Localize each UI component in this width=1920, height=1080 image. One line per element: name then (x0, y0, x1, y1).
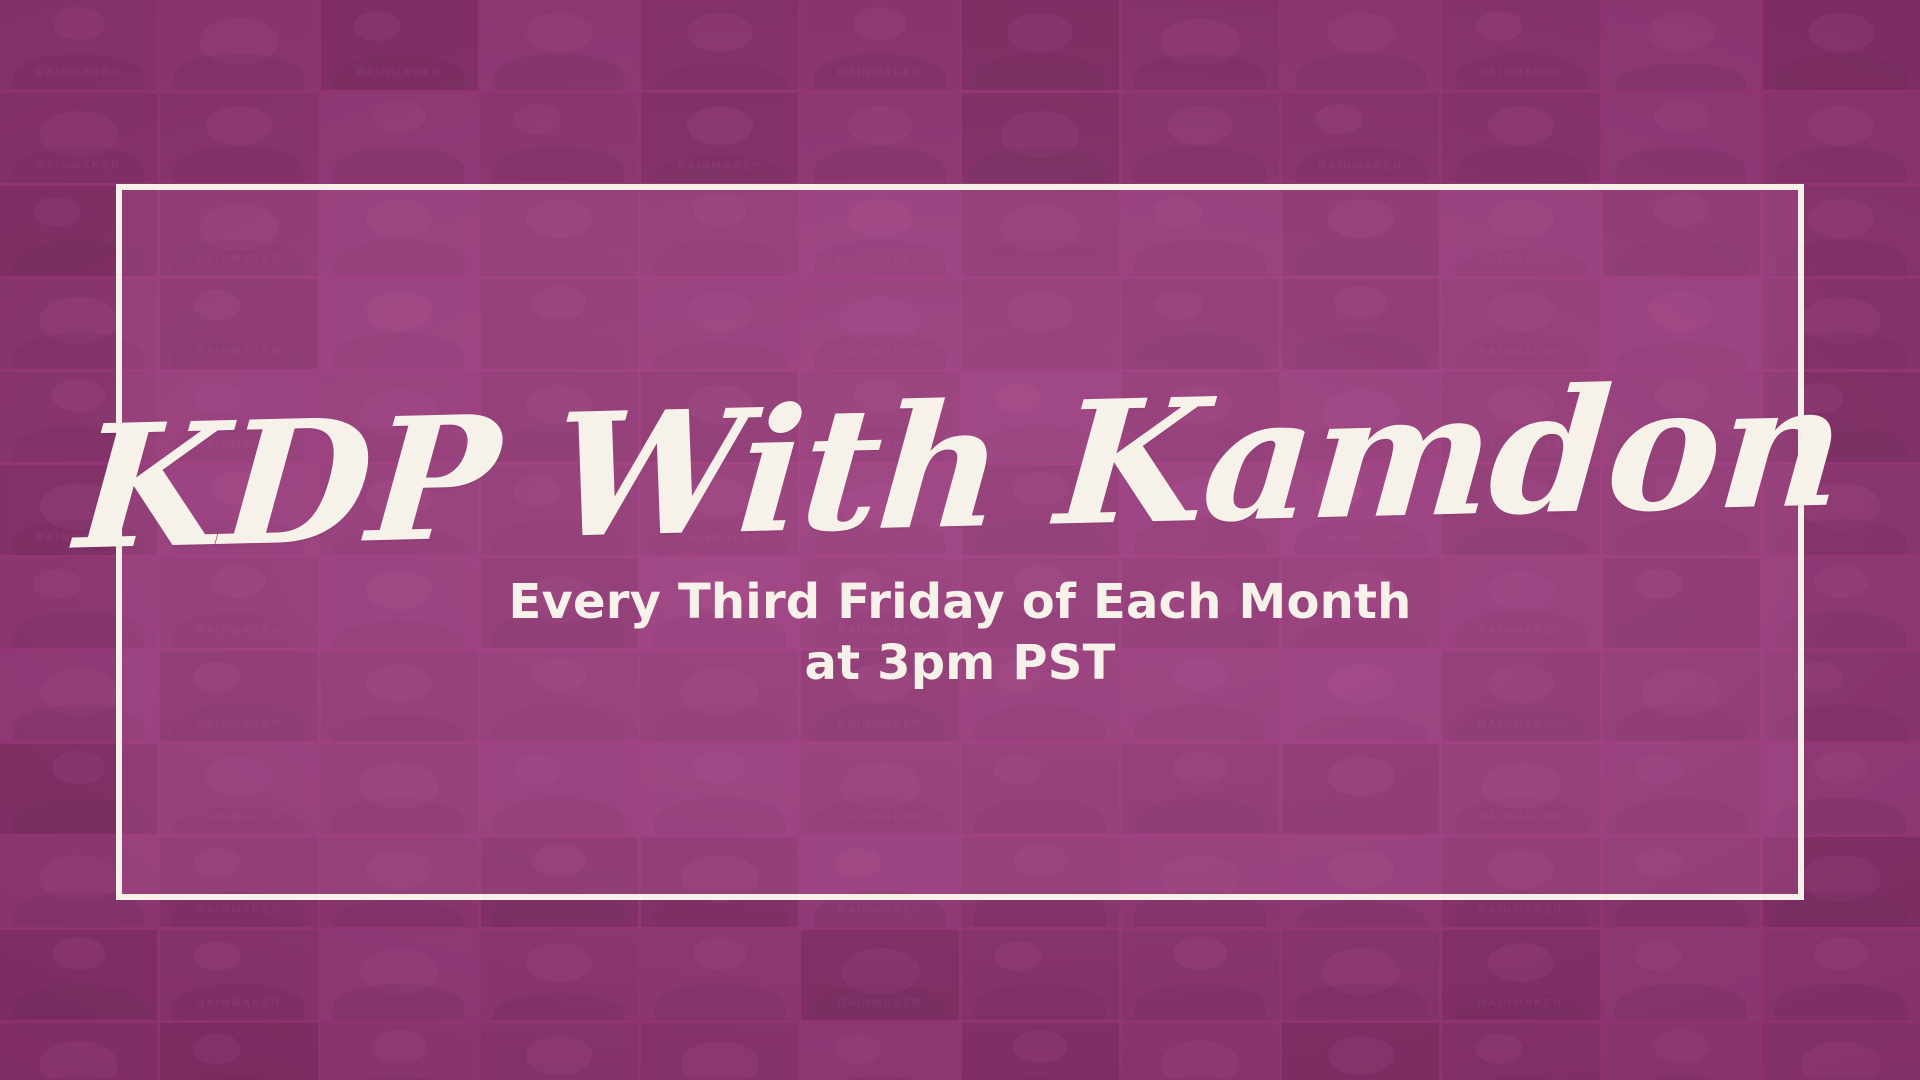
subtitle-line-2: at 3pm PST (508, 633, 1411, 694)
banner-canvas: RAINMAKER RAINMAKER RAINMAKER RAINMAKER … (0, 0, 1920, 1080)
page-title: KDP With Kamdon (72, 368, 1848, 567)
schedule-subtitle: Every Third Friday of Each Month at 3pm … (508, 572, 1411, 695)
text-block: KDP With Kamdon Every Third Friday of Ea… (0, 184, 1920, 900)
subtitle-line-1: Every Third Friday of Each Month (508, 574, 1411, 630)
